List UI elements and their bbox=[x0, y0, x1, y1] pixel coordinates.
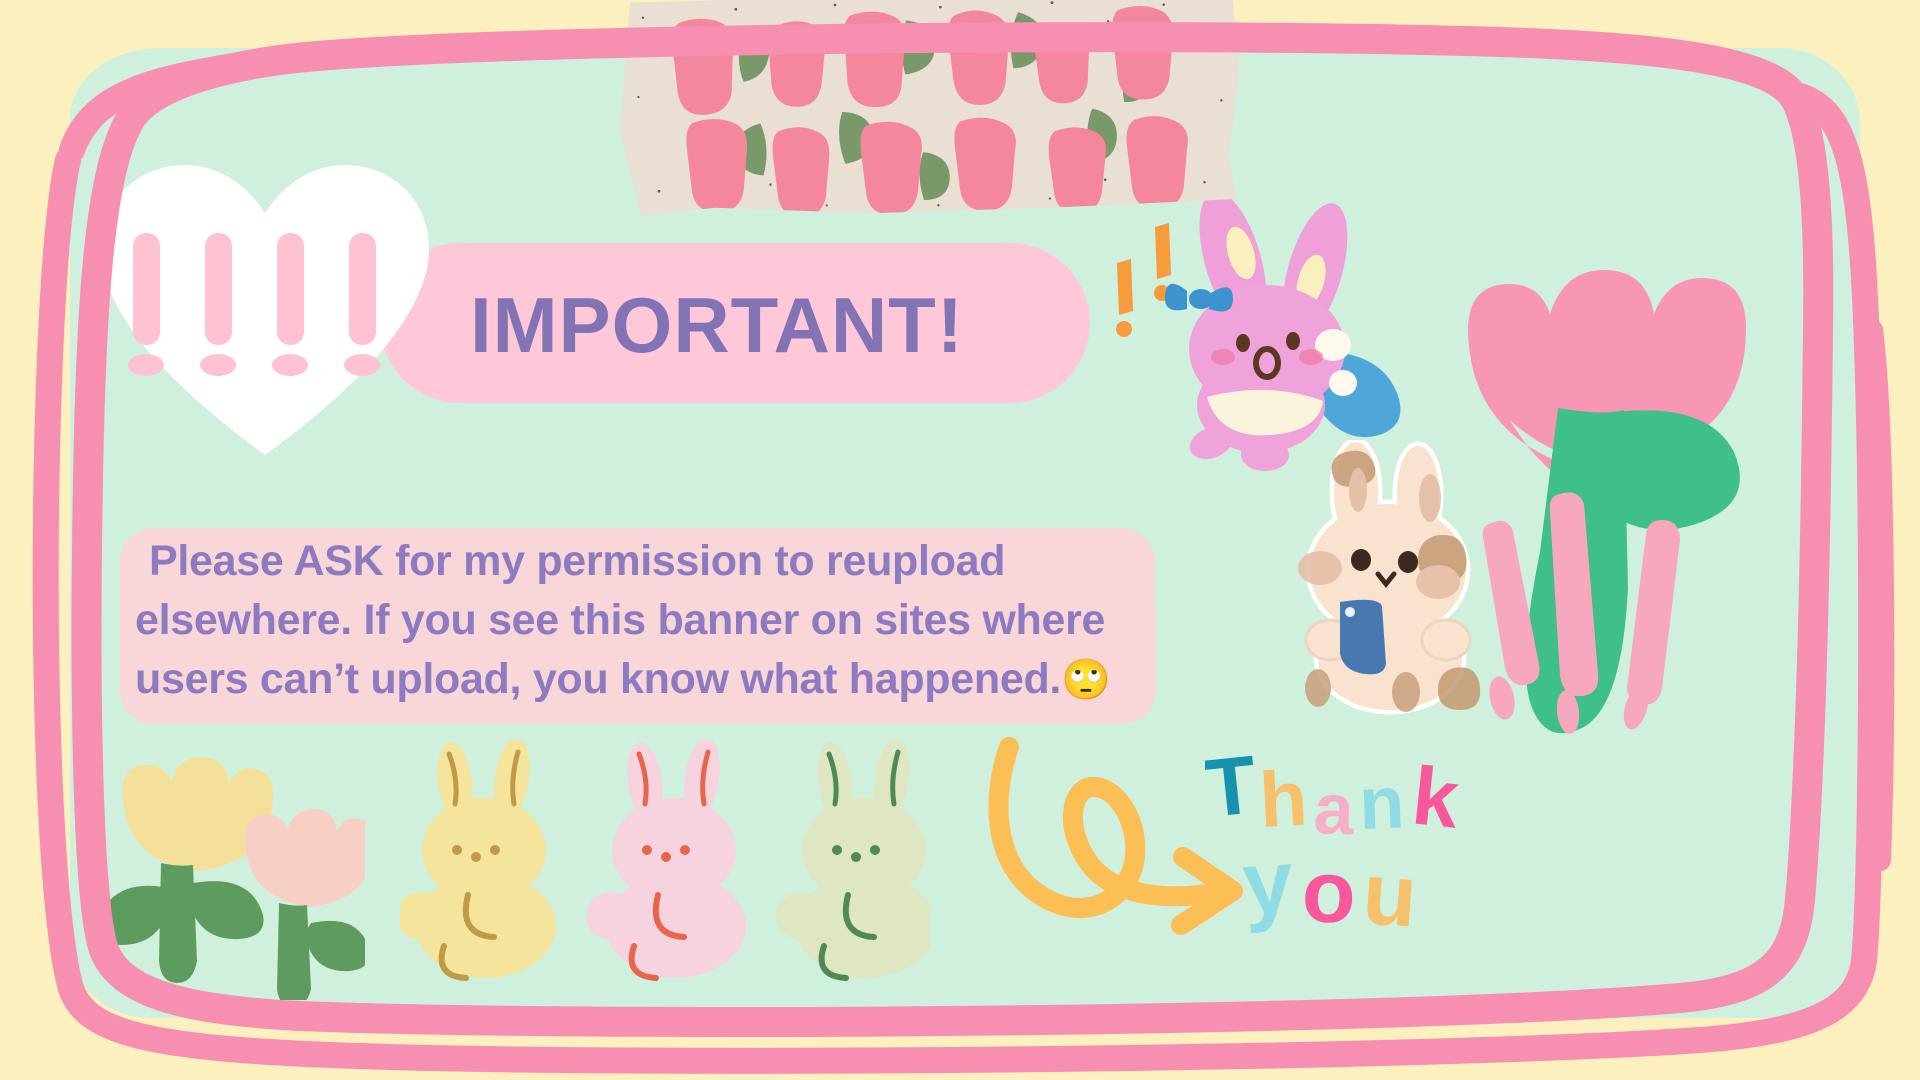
banner-canvas: IMPORTANT! Please ASK for my permission … bbox=[0, 0, 1920, 1080]
hand-drawn-frame bbox=[0, 0, 1920, 1080]
